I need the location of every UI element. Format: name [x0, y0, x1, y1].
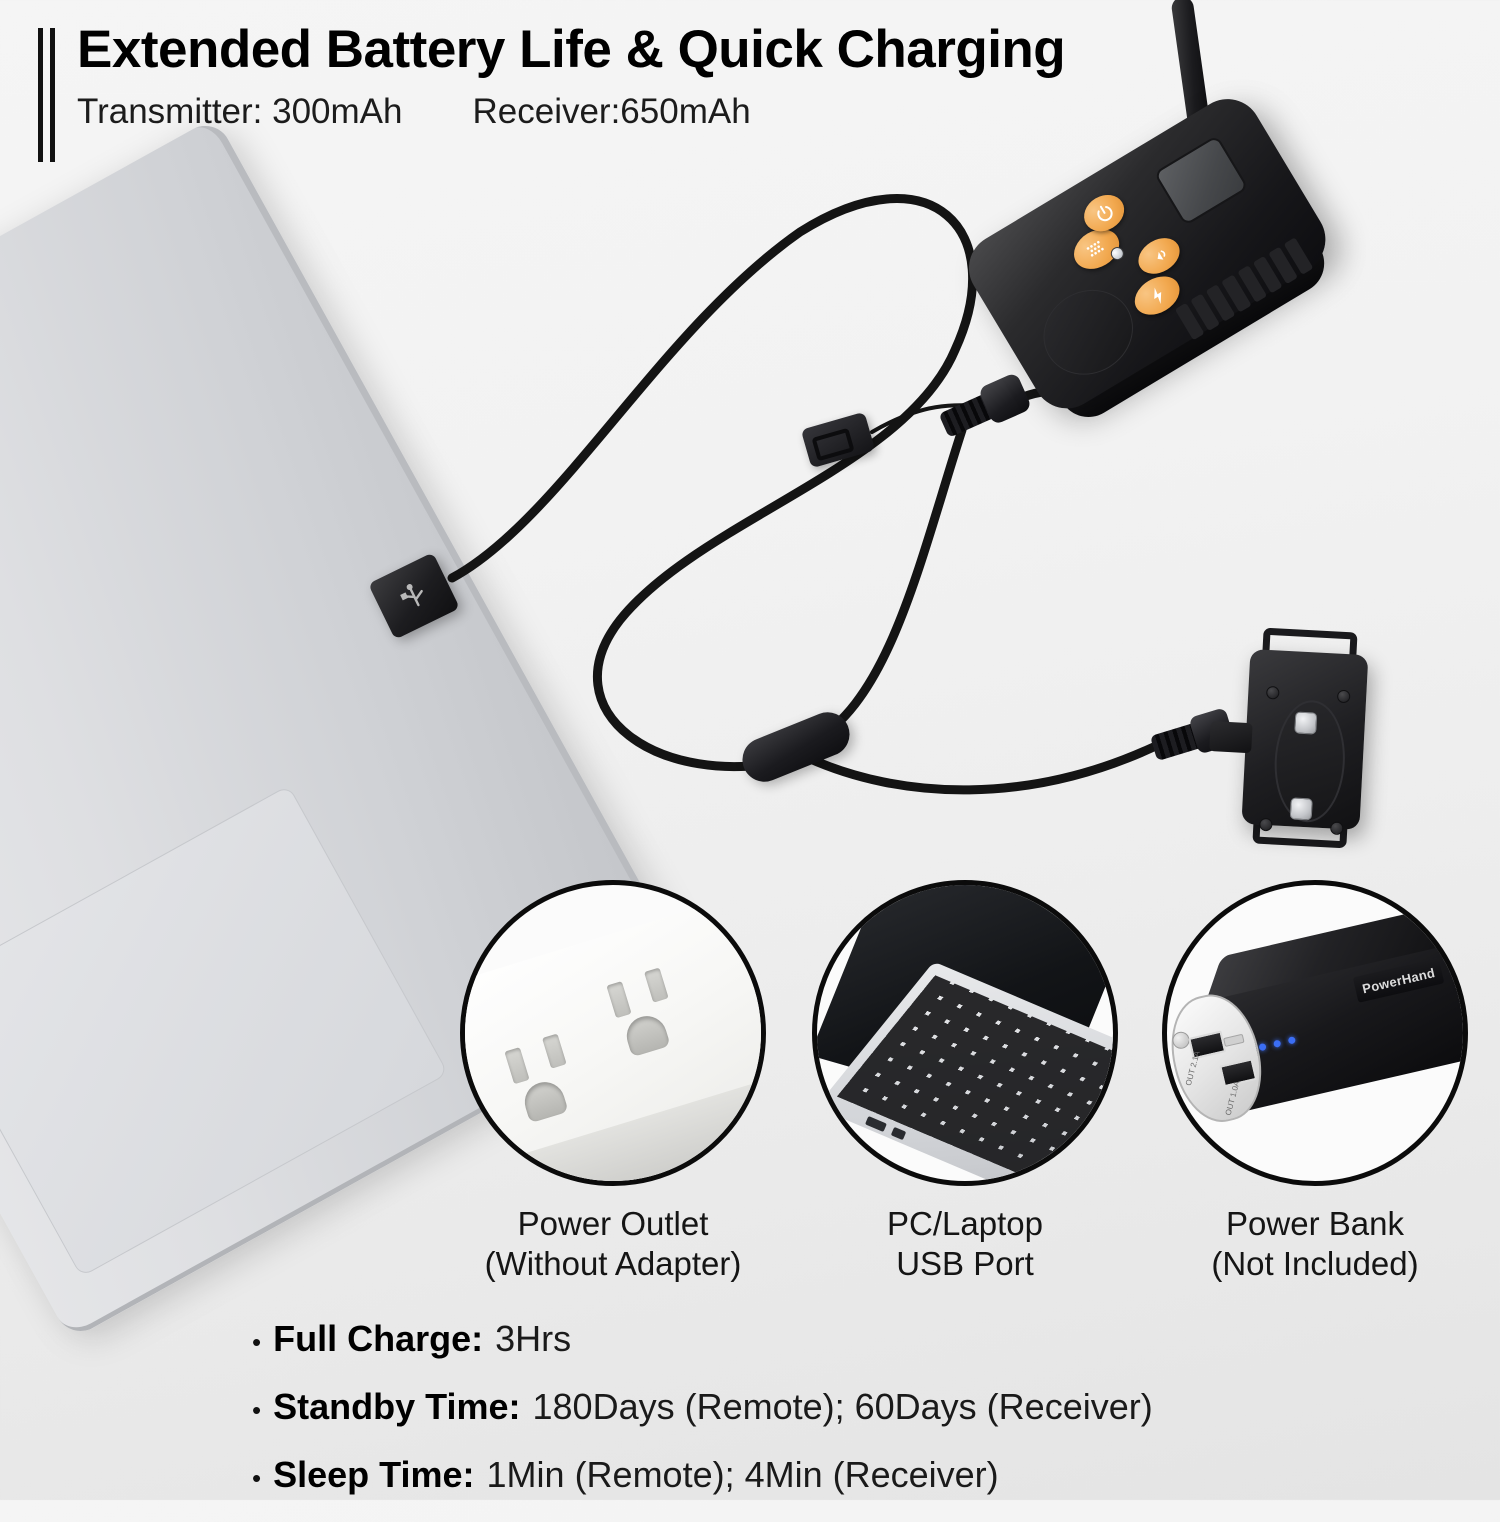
bullet-icon: • — [252, 1329, 261, 1355]
micro-usb-input-port — [1223, 1034, 1245, 1047]
barrel-charging-plug — [936, 372, 1033, 444]
callout-caption: PC/Laptop USB Port — [812, 1204, 1118, 1285]
spec-key: Standby Time: — [273, 1386, 520, 1428]
usb-port-label-1: OUT 2.1A — [1184, 1050, 1202, 1087]
receiver-capacity: Receiver:650mAh — [472, 92, 750, 132]
power-bank-photo: PowerHand OUT 2.1A OUT 1.0A — [1166, 921, 1468, 1150]
caption-line-1: PC/Laptop — [812, 1204, 1118, 1244]
power-icon — [1091, 200, 1117, 226]
usb-trident-icon — [392, 575, 436, 617]
outlet-ground-hole — [520, 1077, 569, 1123]
outlet-slot-right — [644, 967, 669, 1002]
laptop-photo — [827, 891, 1118, 1186]
circle-photo-outlet — [460, 880, 766, 1186]
outlet-slot-right — [542, 1033, 567, 1068]
caption-line-2: (Without Adapter) — [460, 1244, 766, 1284]
caption-line-1: Power Bank — [1162, 1204, 1468, 1244]
callout-power-outlet: Power Outlet (Without Adapter) — [460, 880, 766, 1285]
callout-caption: Power Outlet (Without Adapter) — [460, 1204, 766, 1285]
contact-prong-bottom — [1290, 797, 1313, 820]
usb-square — [400, 592, 408, 600]
usb-dot — [406, 583, 414, 591]
power-bank-brand-logo: PowerHand — [1353, 958, 1445, 1003]
accent-bar-icon — [38, 22, 55, 162]
spec-row-full-charge: • Full Charge: 3Hrs — [252, 1318, 1452, 1360]
caption-line-2: (Not Included) — [1162, 1244, 1468, 1284]
charge-port-rubber-cap — [801, 412, 875, 469]
bullet-icon: • — [252, 1465, 261, 1491]
cable-splitter-to-remote — [812, 430, 962, 742]
contact-prong-top — [1294, 711, 1317, 734]
spec-value: 1Min (Remote); 4Min (Receiver) — [487, 1454, 999, 1496]
infographic-canvas: Extended Battery Life & Quick Charging T… — [0, 0, 1500, 1500]
receiver-housing — [1241, 649, 1368, 830]
callout-power-bank: PowerHand OUT 2.1A OUT 1.0A — [1162, 880, 1468, 1285]
spec-list: • Full Charge: 3Hrs • Standby Time: 180D… — [252, 1318, 1452, 1522]
callout-caption: Power Bank (Not Included) — [1162, 1204, 1468, 1285]
spec-row-sleep-time: • Sleep Time: 1Min (Remote); 4Min (Recei… — [252, 1454, 1452, 1496]
spec-key: Full Charge: — [273, 1318, 483, 1360]
spec-key: Sleep Time: — [273, 1454, 474, 1496]
power-button[interactable] — [1077, 188, 1131, 239]
callout-pc-laptop-usb: PC/Laptop USB Port — [812, 880, 1118, 1285]
remote-dial-knob[interactable] — [1028, 273, 1149, 391]
spec-row-standby-time: • Standby Time: 180Days (Remote); 60Days… — [252, 1386, 1452, 1428]
circle-photo-laptop — [812, 880, 1118, 1186]
outlet-ground-hole — [622, 1011, 671, 1057]
bullet-icon: • — [252, 1397, 261, 1423]
lcd-screen — [1153, 135, 1248, 226]
page-title: Extended Battery Life & Quick Charging — [77, 22, 1065, 78]
circle-photo-power-bank: PowerHand OUT 2.1A OUT 1.0A — [1162, 880, 1468, 1186]
spec-value: 180Days (Remote); 60Days (Receiver) — [533, 1386, 1153, 1428]
beep-sound-icon — [1146, 244, 1171, 268]
cable-splitter-to-receiver — [806, 744, 1160, 790]
cable-y-splitter — [736, 706, 856, 789]
receiver-charge-jack — [1209, 721, 1253, 753]
caption-line-1: Power Outlet — [460, 1204, 766, 1244]
screw-icon — [1266, 686, 1280, 700]
vibration-icon — [1084, 237, 1109, 261]
charging-source-callouts: Power Outlet (Without Adapter) PC/Laptop… — [440, 880, 1470, 1210]
beep-button[interactable] — [1132, 231, 1186, 281]
caption-line-2: USB Port — [812, 1244, 1118, 1284]
receiver-collar-unit — [1234, 627, 1375, 849]
screw-icon — [1337, 690, 1351, 704]
spec-value: 3Hrs — [495, 1318, 571, 1360]
shock-lightning-icon — [1146, 284, 1169, 308]
